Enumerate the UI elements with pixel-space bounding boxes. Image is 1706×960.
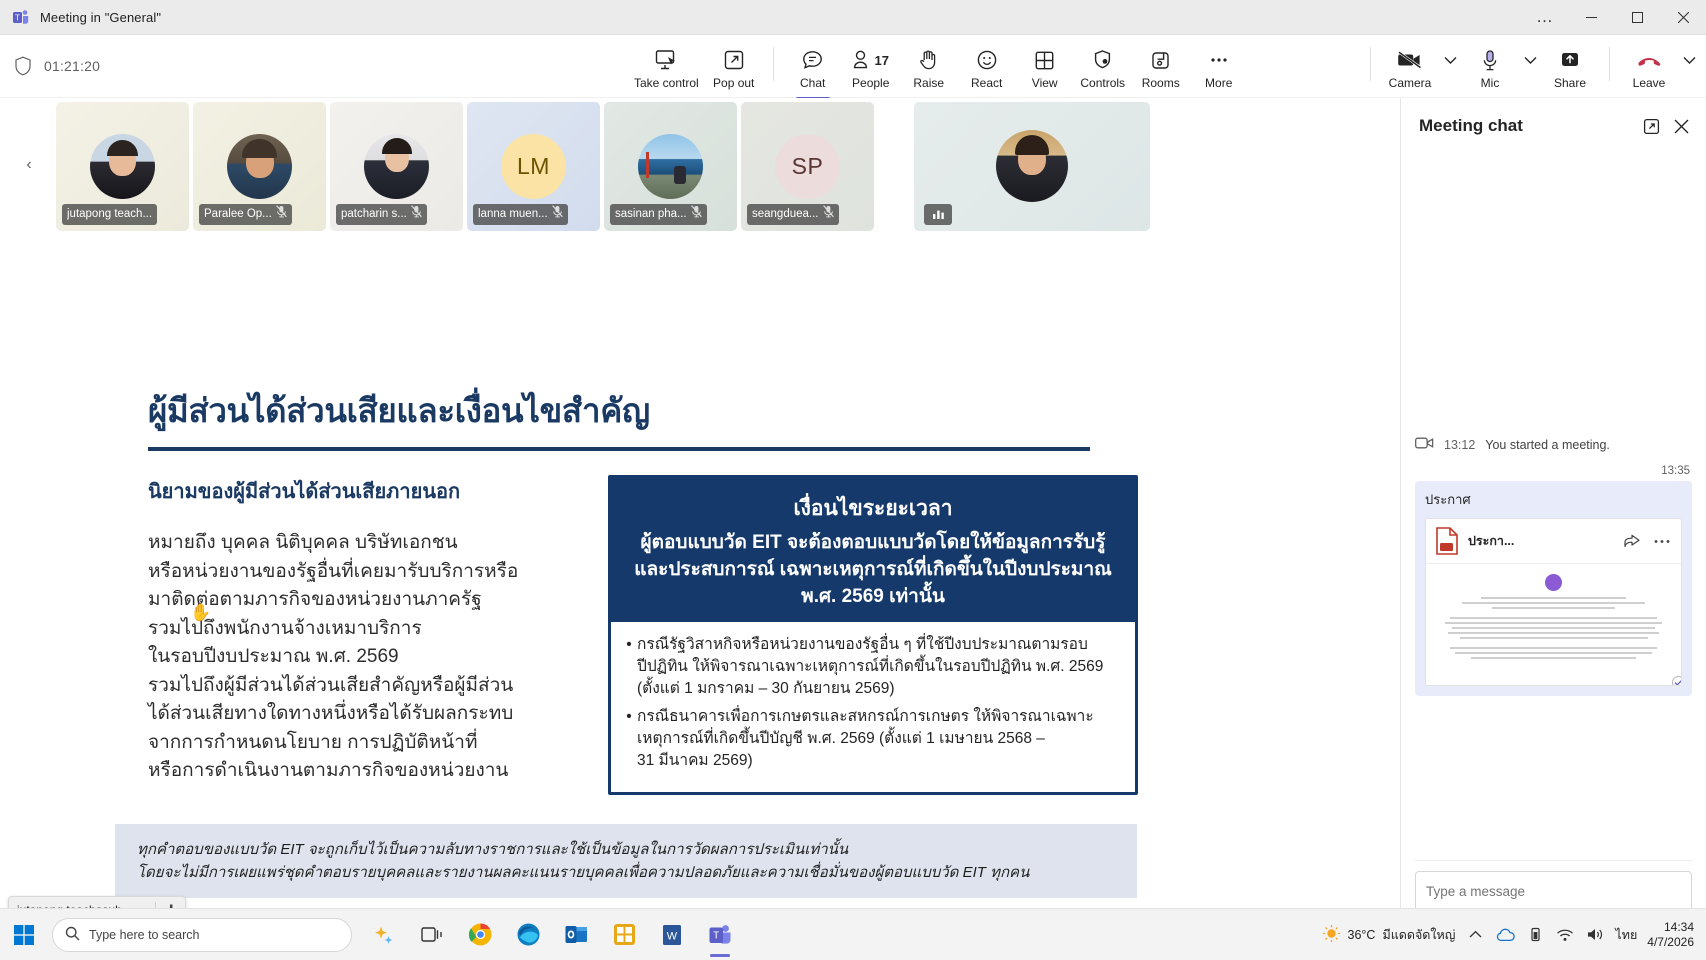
share-button[interactable]: Share <box>1541 43 1599 92</box>
avatar-initials: SP <box>775 134 840 199</box>
clock-time: 14:34 <box>1647 920 1694 935</box>
avatar <box>90 134 155 199</box>
shield-gear-icon <box>1092 47 1113 73</box>
svg-text:T: T <box>15 14 20 23</box>
participant-tile[interactable]: jutapong teach... <box>56 102 189 231</box>
raise-hand-button[interactable]: Raise <box>900 43 958 92</box>
toolbar-divider <box>773 47 774 81</box>
participant-name: patcharin s... <box>341 208 407 220</box>
minimize-button[interactable] <box>1568 0 1614 35</box>
windows-start-button[interactable] <box>0 909 48 960</box>
search-placeholder: Type here to search <box>89 928 199 942</box>
shared-slide[interactable]: ผู้มีส่วนได้ส่วนเสียและเงื่อนไขสำคัญ นิย… <box>85 336 1155 924</box>
wifi-icon[interactable] <box>1555 925 1575 945</box>
hand-cursor-icon: ✋ <box>190 603 211 623</box>
teams-icon: T <box>10 6 32 28</box>
svg-text:W: W <box>667 930 678 942</box>
chat-message-bubble[interactable]: ประกาศ ประกา... <box>1415 481 1692 696</box>
system-message-text: You started a meeting. <box>1485 438 1610 452</box>
rooms-icon <box>1150 47 1171 73</box>
share-icon[interactable] <box>1621 530 1643 552</box>
name-chip: sasinan pha... <box>610 204 707 225</box>
react-button[interactable]: React <box>958 43 1016 92</box>
people-button[interactable]: 17 People <box>842 43 900 92</box>
shield-icon <box>14 56 32 76</box>
mic-muted-icon <box>411 205 422 223</box>
teams-meeting-window: T Meeting in "General" … 01:21:20 <box>0 0 1706 960</box>
windows-taskbar: Type here to search <box>0 908 1706 960</box>
chrome-icon[interactable] <box>458 912 502 958</box>
chat-message-list[interactable]: 13:12 You started a meeting. 13:35 ประกา… <box>1401 154 1706 860</box>
chat-bubble-icon <box>801 47 824 73</box>
battery-icon[interactable] <box>1525 925 1545 945</box>
camera-button[interactable]: Camera <box>1381 43 1439 92</box>
microphone-icon <box>1480 47 1500 73</box>
sun-icon <box>1322 924 1341 946</box>
attachment-card[interactable]: ประกา... <box>1425 518 1682 686</box>
controls-label: Controls <box>1080 76 1125 90</box>
copilot-icon[interactable] <box>362 912 406 958</box>
slide-title-rule <box>148 447 1090 451</box>
chat-header: Meeting chat <box>1401 98 1706 154</box>
participant-tile[interactable]: sasinan pha... <box>604 102 737 231</box>
share-screen-icon <box>1558 47 1582 73</box>
chat-close-icon[interactable] <box>1666 111 1696 141</box>
camera-label: Camera <box>1389 76 1432 90</box>
bullet-item: • กรณีรัฐวิสาหกิจหรือหน่วยงานของรัฐอื่น … <box>621 634 1121 700</box>
participant-name: lanna muen... <box>478 208 548 220</box>
rooms-label: Rooms <box>1142 76 1180 90</box>
attachment-more-icon[interactable] <box>1651 530 1673 552</box>
attachment-header: ประกา... <box>1426 519 1681 563</box>
speaker-icon[interactable] <box>1585 925 1605 945</box>
participant-tiles: jutapong teach... Paralee Op... <box>56 102 1150 231</box>
weather-temp: 36°C <box>1348 928 1376 942</box>
controls-button[interactable]: Controls <box>1074 43 1132 92</box>
close-button[interactable] <box>1660 0 1706 35</box>
chevron-up-icon[interactable] <box>1465 925 1485 945</box>
window-title: Meeting in "General" <box>40 10 161 25</box>
mic-muted-icon <box>823 205 834 223</box>
name-chip: jutapong teach... <box>62 204 157 225</box>
clock-date: 4/7/2026 <box>1647 935 1694 950</box>
participant-name: seangduea... <box>752 208 819 220</box>
timeframe-subtext: ผู้ตอบแบบวัด EIT จะต้องตอบแบบวัดโดยให้ข้… <box>611 529 1135 622</box>
avatar <box>996 130 1068 202</box>
seen-icon <box>1672 676 1681 685</box>
view-button[interactable]: View <box>1016 43 1074 92</box>
slide-footer-text: ทุกคำตอบของแบบวัด EIT จะถูกเก็บไว้เป็นคว… <box>137 838 1115 884</box>
camera-chevron-down-icon[interactable] <box>1439 43 1461 77</box>
attachment-preview[interactable] <box>1426 563 1681 685</box>
spotlight-tile[interactable] <box>914 102 1150 231</box>
message-input[interactable] <box>1416 872 1691 911</box>
store-icon[interactable] <box>602 912 646 958</box>
maximize-button[interactable] <box>1614 0 1660 35</box>
media-divider <box>1370 47 1371 81</box>
bullet-dot: • <box>621 706 637 772</box>
slide-body-text: หมายถึง บุคคล นิติบุคคล บริษัทเอกชน หรือ… <box>148 529 588 786</box>
slide-right-column: เงื่อนไขระยะเวลา ผู้ตอบแบบวัด EIT จะต้อง… <box>608 475 1138 795</box>
meeting-stage: ‹ › jutapong teach... Paralee Op... <box>0 98 1400 960</box>
more-label: More <box>1205 76 1232 90</box>
leave-label: Leave <box>1633 76 1666 90</box>
search-icon <box>65 926 80 944</box>
system-tray: 36°C มีแดดจัดใหญ่ ไทย 14:34 4/7/2026 <box>1322 920 1706 950</box>
message-timestamp: 13:35 <box>1415 465 1690 477</box>
leave-chevron-down-icon[interactable] <box>1678 43 1700 77</box>
video-icon <box>1415 436 1434 453</box>
teams-taskbar-icon[interactable]: T <box>698 912 742 958</box>
avatar <box>638 134 703 199</box>
name-chip: seangduea... <box>747 204 839 225</box>
take-control-button[interactable]: Take control <box>628 43 705 92</box>
avatar-initials: LM <box>501 134 566 199</box>
bullet-dot: • <box>621 634 637 700</box>
roster-prev-button[interactable]: ‹ <box>12 148 46 182</box>
outlook-icon[interactable] <box>554 912 598 958</box>
edge-icon[interactable] <box>506 912 550 958</box>
chat-popout-icon[interactable] <box>1636 111 1666 141</box>
share-label: Share <box>1554 76 1586 90</box>
participant-name: jutapong teach... <box>67 208 152 220</box>
taskbar-search-box[interactable]: Type here to search <box>52 918 352 952</box>
avatar <box>364 134 429 199</box>
meeting-toolbar: 01:21:20 Take control <box>0 35 1706 98</box>
pop-out-icon <box>723 47 745 73</box>
timeframe-heading: เงื่อนไขระยะเวลา <box>611 478 1135 529</box>
bullet-item: • กรณีธนาคารเพื่อการเกษตรและสหกรณ์การเกษ… <box>621 706 1121 772</box>
ellipsis-icon <box>1208 47 1230 73</box>
participant-name: Paralee Op... <box>204 208 272 220</box>
mic-muted-icon <box>276 205 287 223</box>
raise-label: Raise <box>913 76 944 90</box>
participant-tile[interactable]: SP seangduea... <box>741 102 874 231</box>
participant-tile[interactable]: Paralee Op... <box>193 102 326 231</box>
participant-strip: ‹ › jutapong teach... Paralee Op... <box>56 98 1344 234</box>
taskbar-clock[interactable]: 14:34 4/7/2026 <box>1647 920 1694 950</box>
person-icon: 17 <box>852 47 888 73</box>
take-control-label: Take control <box>634 76 699 90</box>
rooms-button[interactable]: Rooms <box>1132 43 1190 92</box>
toolbar-center-group: Take control Pop out <box>628 43 1248 92</box>
mic-button[interactable]: Mic <box>1461 43 1519 92</box>
chat-button[interactable]: Chat <box>784 43 842 92</box>
weather-widget[interactable]: 36°C มีแดดจัดใหญ่ <box>1322 924 1456 946</box>
participant-tile[interactable]: patcharin s... <box>330 102 463 231</box>
word-icon[interactable]: W <box>650 912 694 958</box>
title-bar: T Meeting in "General" … <box>0 0 1706 35</box>
timeframe-bullets: • กรณีรัฐวิสาหกิจหรือหน่วยงานของรัฐอื่น … <box>611 622 1135 792</box>
mic-chevron-down-icon[interactable] <box>1519 43 1541 77</box>
system-message-time: 13:12 <box>1444 438 1475 452</box>
slide-subheading: นิยามของผู้มีส่วนได้ส่วนเสียภายนอก <box>148 475 588 507</box>
people-label: People <box>852 76 889 90</box>
react-label: React <box>971 76 1002 90</box>
svg-text:T: T <box>713 930 719 941</box>
avatar <box>227 134 292 199</box>
meeting-timer: 01:21:20 <box>44 58 100 74</box>
pdf-file-icon <box>1434 526 1460 556</box>
name-chip: patcharin s... <box>336 204 427 225</box>
chat-label: Chat <box>800 76 825 90</box>
weather-text: มีแดดจัดใหญ่ <box>1382 925 1455 945</box>
timeframe-box: เงื่อนไขระยะเวลา ผู้ตอบแบบวัด EIT จะต้อง… <box>608 475 1138 795</box>
participant-tile[interactable]: LM lanna muen... <box>467 102 600 231</box>
raise-hand-icon <box>918 47 939 73</box>
window-more-button[interactable]: … <box>1522 0 1568 35</box>
people-count: 17 <box>874 53 888 68</box>
mic-muted-icon <box>552 205 563 223</box>
toolbar-media-group: Camera Mic <box>1360 43 1700 92</box>
task-view-icon[interactable] <box>410 912 454 958</box>
view-label: View <box>1032 76 1058 90</box>
hangup-icon <box>1635 47 1663 73</box>
slide-footer-band: ทุกคำตอบของแบบวัด EIT จะถูกเก็บไว้เป็นคว… <box>115 824 1137 898</box>
name-chip: lanna muen... <box>473 204 568 225</box>
smiley-icon <box>976 47 998 73</box>
system-message: 13:12 You started a meeting. <box>1415 436 1692 453</box>
taskbar-apps: W T <box>362 912 742 958</box>
chat-panel-title: Meeting chat <box>1419 116 1636 136</box>
pop-out-button[interactable]: Pop out <box>705 43 763 92</box>
more-button[interactable]: More <box>1190 43 1248 92</box>
pop-out-label: Pop out <box>713 76 754 90</box>
mic-muted-icon <box>691 205 702 223</box>
leave-divider <box>1609 47 1610 81</box>
screen-cursor-icon <box>654 47 678 73</box>
meeting-chat-panel: Meeting chat 13:12 You <box>1400 98 1706 960</box>
grid-icon <box>1034 47 1055 73</box>
bullet-text: กรณีรัฐวิสาหกิจหรือหน่วยงานของรัฐอื่น ๆ … <box>637 634 1121 700</box>
slide-title: ผู้มีส่วนได้ส่วนเสียและเงื่อนไขสำคัญ <box>148 384 1155 437</box>
cloud-icon[interactable] <box>1495 925 1515 945</box>
slide-left-column: นิยามของผู้มีส่วนได้ส่วนเสียภายนอก หมายถ… <box>148 475 588 795</box>
camera-off-icon <box>1397 47 1423 73</box>
bullet-text: กรณีธนาคารเพื่อการเกษตรและสหกรณ์การเกษตร… <box>637 706 1121 772</box>
language-indicator[interactable]: ไทย <box>1615 925 1637 945</box>
chat-message-text: ประกาศ <box>1425 489 1682 510</box>
mic-label: Mic <box>1481 76 1500 90</box>
attachment-name: ประกา... <box>1468 531 1613 551</box>
name-chip: Paralee Op... <box>199 204 292 225</box>
document-logo-icon <box>1545 574 1562 591</box>
participant-name: sasinan pha... <box>615 208 687 220</box>
audio-level-icon <box>924 204 952 225</box>
leave-button[interactable]: Leave <box>1620 43 1678 92</box>
